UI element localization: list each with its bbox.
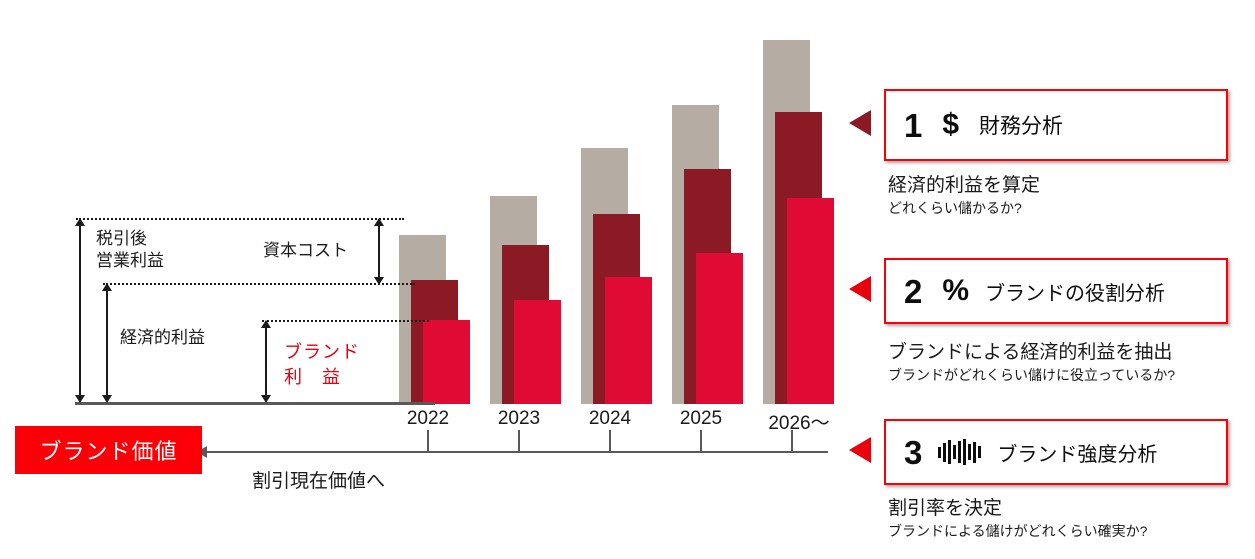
timeline-tick-2022 (427, 430, 429, 452)
label-after-tax-profit-line1: 税引後 (96, 228, 164, 250)
year-label-2024: 2024 (575, 408, 645, 430)
panel-2-number: 2 (904, 275, 922, 308)
timeline-tick-2026 (791, 430, 793, 452)
timeline-tick-2025 (700, 430, 702, 452)
dollar-icon: $ (942, 110, 959, 140)
measure-brand-profit-arrow-top (261, 320, 271, 328)
panel-2-caption-sub: ブランドがどれくらい儲けに役立っているか? (888, 365, 1175, 385)
leader-line-low (262, 320, 429, 322)
measure-cost-of-capital-arrow-bottom (374, 277, 384, 285)
chart-baseline (75, 402, 435, 405)
measure-economic-profit-line (106, 284, 108, 397)
bar-red-2023 (514, 300, 561, 404)
label-brand-profit-line1: ブランド (284, 340, 360, 365)
measure-economic-profit-arrow-bottom (102, 395, 112, 403)
label-after-tax-profit: 税引後 営業利益 (96, 228, 164, 272)
percent-icon: % (942, 276, 969, 306)
panel-marker-2-icon (849, 276, 871, 302)
timeline-tick-2024 (609, 430, 611, 452)
panel-marker-3-icon (849, 437, 871, 463)
discount-arrow-label: 割引現在価値へ (252, 466, 385, 493)
panel-1-number: 1 (904, 109, 922, 142)
label-cost-of-capital: 資本コスト (263, 240, 348, 262)
label-economic-profit: 経済的利益 (120, 327, 205, 349)
panel-2[interactable]: 2 % ブランドの役割分析 (884, 258, 1228, 324)
bar-red-2022 (423, 320, 470, 404)
panel-1-caption-sub: どれくらい儲かるか? (888, 198, 1022, 218)
bar-red-2024 (605, 277, 652, 404)
measure-after-tax-profit-arrow-top (75, 218, 85, 226)
measure-after-tax-profit-line (79, 219, 81, 397)
panel-1-caption-main: 経済的利益を算定 (888, 170, 1040, 197)
panel-3-title: ブランド強度分析 (997, 438, 1157, 467)
diagram-canvas: 2022 2023 2024 2025 2026〜 割引現在価値へ ブランド価値… (0, 0, 1255, 559)
label-brand-profit-line2: 利 益 (284, 365, 360, 390)
leader-line-top (76, 218, 404, 220)
measure-cost-of-capital-arrow-top (374, 218, 384, 226)
panel-3-caption-sub: ブランドによる儲けがどれくらい確実か? (888, 521, 1147, 541)
panel-3-caption-main: 割引率を決定 (888, 493, 1002, 520)
label-after-tax-profit-line2: 営業利益 (96, 250, 164, 272)
timeline-tick-2023 (518, 430, 520, 452)
measure-cost-of-capital-line (378, 219, 380, 283)
panel-2-title: ブランドの役割分析 (985, 277, 1165, 306)
year-label-2022: 2022 (393, 408, 463, 430)
measure-economic-profit-arrow-top (102, 283, 112, 291)
leader-line-mid (103, 283, 415, 285)
measure-brand-profit-line (265, 321, 267, 397)
panel-1-title: 財務分析 (979, 110, 1063, 140)
label-brand-profit: ブランド 利 益 (284, 340, 360, 390)
timeline-axis (200, 451, 828, 453)
year-label-2025: 2025 (666, 408, 736, 430)
year-label-2023: 2023 (484, 408, 554, 430)
bar-red-2026 (787, 198, 834, 404)
measure-after-tax-profit-arrow-bottom (75, 395, 85, 403)
panel-3[interactable]: 3 ブランド強度分析 (884, 419, 1228, 485)
panel-1[interactable]: 1 $ 財務分析 (884, 89, 1228, 161)
bar-red-2025 (696, 253, 743, 404)
brand-value-box: ブランド価値 (15, 426, 202, 474)
panel-3-number: 3 (904, 436, 922, 469)
measure-brand-profit-arrow-bottom (261, 395, 271, 403)
equalizer-icon (938, 439, 981, 465)
panel-marker-1-icon (849, 110, 871, 136)
year-label-2026: 2026〜 (755, 408, 843, 435)
panel-2-caption-main: ブランドによる経済的利益を抽出 (888, 337, 1172, 364)
